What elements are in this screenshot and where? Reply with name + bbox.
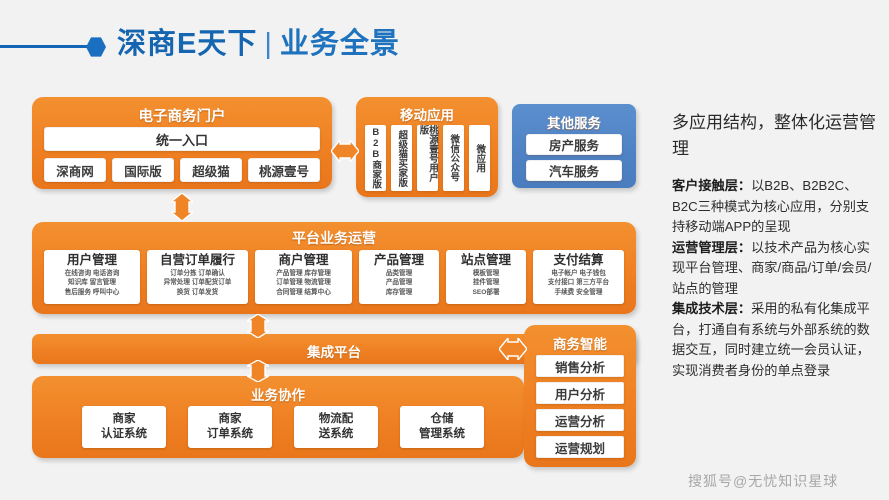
platform-card-site-management[interactable]: 站点管理 模板管理 挂件管理 SEO部署 bbox=[446, 250, 526, 304]
description-panel: 多应用结构，整体化运营管理 客户接触层：以B2B、B2B2C、B2C三种模式为核… bbox=[672, 110, 878, 381]
mobile-apps-title: 移动应用 bbox=[356, 104, 498, 124]
title-main: 深商E天下 bbox=[117, 28, 257, 60]
description-paragraph-customer-layer: 客户接触层：以B2B、B2B2C、B2C三种模式为核心应用，分别支持移动端APP… bbox=[672, 176, 878, 238]
card-detail: 在线咨询 电话咨询 知识库 留言管理 售后服务 呼叫中心 bbox=[44, 269, 140, 297]
card-detail: 模板管理 挂件管理 SEO部署 bbox=[446, 269, 526, 297]
arrow-platform-integration bbox=[247, 314, 269, 338]
arrow-portal-platform bbox=[171, 193, 193, 221]
paragraph-label: 集成技术层： bbox=[672, 301, 751, 316]
hexagon-bullet-icon bbox=[86, 37, 106, 57]
collab-card-logistics-delivery[interactable]: 物流配 送系统 bbox=[294, 406, 378, 448]
mobile-item-wechat-official[interactable]: 微信公众号 bbox=[443, 125, 464, 191]
card-title: 用户管理 bbox=[44, 253, 140, 268]
portal-item-shenshangwang[interactable]: 深商网 bbox=[44, 158, 106, 182]
platform-operations-panel: 平台业务运营 用户管理 在线咨询 电话咨询 知识库 留言管理 售后服务 呼叫中心… bbox=[32, 222, 636, 314]
description-heading: 多应用结构，整体化运营管理 bbox=[672, 110, 878, 162]
platform-card-product-management[interactable]: 产品管理 品类管理 产品管理 库存管理 bbox=[359, 250, 439, 304]
card-detail: 产品管理 库存管理 订单管理 物流管理 合同管理 结算中心 bbox=[255, 269, 352, 297]
platform-card-self-order-fulfillment[interactable]: 自营订单履行 订单分拣 订单确认 异常处理 订单配货订单 换货 订单发货 bbox=[147, 250, 248, 304]
card-title: 产品管理 bbox=[359, 253, 439, 268]
paragraph-label: 客户接触层： bbox=[672, 178, 751, 193]
card-title: 支付结算 bbox=[533, 253, 624, 268]
mobile-item-micro-app[interactable]: 微应用 bbox=[469, 125, 490, 191]
other-services-panel: 其他服务 房产服务 汽车服务 bbox=[512, 104, 636, 188]
platform-card-payment-settlement[interactable]: 支付结算 电子帐户 电子钱包 支付接口 第三方平台 手续费 安全管理 bbox=[533, 250, 624, 304]
slide-canvas: 深商E天下|业务全景 电子商务门户 统一入口 深商网 国际版 超级猫 桃源壹号 … bbox=[0, 0, 889, 500]
mobile-item-supercat-buyer[interactable]: 超级猫买家版 bbox=[391, 125, 412, 191]
description-paragraph-operation-layer: 运营管理层：以技术产品为核心实现平台管理、商家/商品/订单/会员/站点的管理 bbox=[672, 238, 878, 300]
watermark: 搜狐号@无忧知识星球 bbox=[688, 471, 838, 491]
card-detail: 品类管理 产品管理 库存管理 bbox=[359, 269, 439, 297]
collab-card-warehouse-management[interactable]: 仓储 管理系统 bbox=[400, 406, 484, 448]
card-detail: 电子帐户 电子钱包 支付接口 第三方平台 手续费 安全管理 bbox=[533, 269, 624, 297]
mobile-item-taoyuan-user[interactable]: 桃源壹号用户版 bbox=[417, 125, 438, 191]
title-sub: 业务全景 bbox=[280, 28, 400, 60]
platform-operations-title: 平台业务运营 bbox=[32, 228, 636, 248]
bi-item-sales-analysis[interactable]: 销售分析 bbox=[536, 355, 624, 377]
collab-card-merchant-order[interactable]: 商家 订单系统 bbox=[188, 406, 272, 448]
business-collaboration-title: 业务协作 bbox=[32, 384, 524, 404]
platform-card-merchant-management[interactable]: 商户管理 产品管理 库存管理 订单管理 物流管理 合同管理 结算中心 bbox=[255, 250, 352, 304]
mobile-item-b2b-merchant[interactable]: B2B商家版 bbox=[365, 125, 386, 191]
arrow-integration-bi bbox=[499, 338, 527, 360]
platform-card-user-management[interactable]: 用户管理 在线咨询 电话咨询 知识库 留言管理 售后服务 呼叫中心 bbox=[44, 250, 140, 304]
card-detail: 订单分拣 订单确认 异常处理 订单配货订单 换货 订单发货 bbox=[147, 269, 248, 297]
other-service-automotive[interactable]: 汽车服务 bbox=[526, 160, 622, 181]
ecommerce-portal-title: 电子商务门户 bbox=[32, 105, 332, 126]
header-rule bbox=[0, 45, 96, 48]
portal-item-international[interactable]: 国际版 bbox=[112, 158, 174, 182]
unified-entry-box[interactable]: 统一入口 bbox=[44, 127, 320, 151]
arrow-integration-collaboration bbox=[247, 360, 269, 382]
title-separator: | bbox=[257, 28, 280, 60]
other-service-real-estate[interactable]: 房产服务 bbox=[526, 134, 622, 155]
arrow-portal-mobile bbox=[331, 140, 359, 162]
portal-item-supercat[interactable]: 超级猫 bbox=[180, 158, 242, 182]
description-paragraph-integration-layer: 集成技术层：采用的私有化集成平台，打通自有系统与外部系统的数据交互，同时建立统一… bbox=[672, 299, 878, 381]
card-title: 商户管理 bbox=[255, 253, 352, 268]
collab-card-merchant-certification[interactable]: 商家 认证系统 bbox=[82, 406, 166, 448]
ecommerce-portal-panel: 电子商务门户 统一入口 深商网 国际版 超级猫 桃源壹号 bbox=[32, 97, 332, 189]
bi-item-operation-analysis[interactable]: 运营分析 bbox=[536, 409, 624, 431]
mobile-apps-panel: 移动应用 B2B商家版 超级猫买家版 桃源壹号用户版 微信公众号 微应用 bbox=[356, 97, 498, 197]
card-title: 自营订单履行 bbox=[147, 253, 248, 268]
page-title: 深商E天下|业务全景 bbox=[117, 22, 400, 66]
other-services-title: 其他服务 bbox=[512, 112, 636, 132]
portal-item-taoyuanyihao[interactable]: 桃源壹号 bbox=[248, 158, 320, 182]
paragraph-label: 运营管理层： bbox=[672, 240, 751, 255]
bi-item-user-analysis[interactable]: 用户分析 bbox=[536, 382, 624, 404]
card-title: 站点管理 bbox=[446, 253, 526, 268]
business-intelligence-title: 商务智能 bbox=[524, 333, 636, 353]
bi-item-operation-planning[interactable]: 运营规划 bbox=[536, 436, 624, 458]
slide-header: 深商E天下|业务全景 bbox=[0, 22, 889, 70]
business-collaboration-panel: 业务协作 商家 认证系统 商家 订单系统 物流配 送系统 仓储 管理系统 bbox=[32, 376, 524, 458]
business-intelligence-panel: 商务智能 销售分析 用户分析 运营分析 运营规划 bbox=[524, 325, 636, 467]
